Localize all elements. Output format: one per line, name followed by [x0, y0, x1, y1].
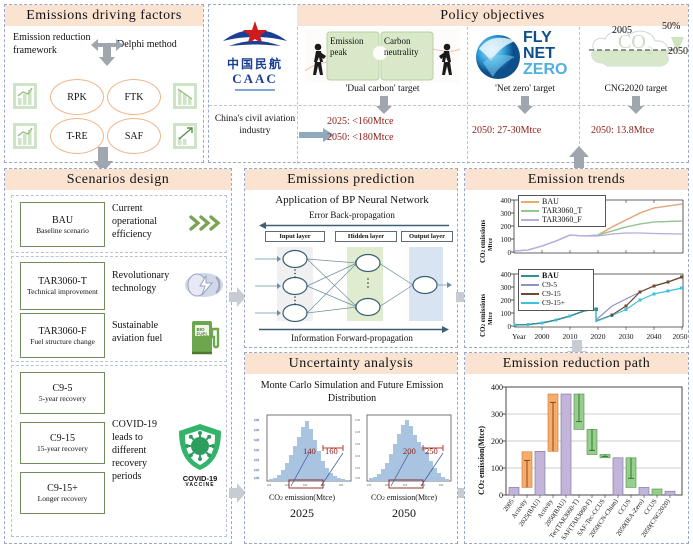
chart-b-xlabel: Year — [512, 332, 526, 341]
backprop-arrow-left-icon — [259, 222, 449, 229]
svg-text:100: 100 — [501, 236, 512, 244]
svg-text:180: 180 — [339, 483, 344, 487]
mc-2025-range-low: 140 — [303, 446, 316, 456]
svg-text:0: 0 — [508, 249, 512, 257]
legend-label: C9-15+ — [542, 298, 565, 307]
scenario-note-bau: Current operational efficiency — [112, 202, 184, 241]
factor-label: T-RE — [66, 131, 87, 142]
bp-neural-network-diagram: Input layer Hidden layer Output layer — [255, 231, 451, 323]
svg-text:2000: 2000 — [535, 332, 550, 341]
bar-chart-up-icon — [13, 123, 37, 149]
svg-text:0.35: 0.35 — [254, 418, 260, 422]
legend-swatch — [521, 284, 539, 286]
chart-emission-reduction-path: CO2 emission(Mtce) 4003002001000 — [465, 377, 690, 545]
scenario-box-c9-15-plus[interactable]: C9-15+ Longer recovery — [20, 472, 105, 514]
logo-line-fly: FLY — [523, 30, 567, 46]
cloud-year-2005-label: 2005 — [612, 25, 632, 36]
scenario-box-c9-5[interactable]: C9-5 5-year recovery — [20, 372, 105, 414]
legend-item: BAU — [521, 197, 603, 206]
svg-text:200: 200 — [501, 223, 512, 231]
svg-text:0.20: 0.20 — [355, 442, 361, 446]
legend-item: BAU — [521, 271, 591, 280]
scenario-desc: Baseline scenario — [36, 226, 89, 235]
legend-swatch — [521, 219, 539, 221]
legend-label: BAU — [542, 197, 559, 206]
scenario-desc: Technical improvement — [24, 287, 102, 296]
legend-swatch — [521, 210, 539, 212]
scenario-box-tar3060-f[interactable]: TAR3060-F Fuel structure change — [20, 313, 105, 358]
panel-emission-reduction-path: Emission reduction path CO2 emission(Mtc… — [464, 352, 689, 544]
scenario-code: BAU — [52, 215, 73, 226]
svg-text:300: 300 — [439, 483, 444, 487]
chart-emission-trends-scenarios: CO2 emissions Mtce 4003002001000 — [469, 193, 686, 267]
legend-swatch — [521, 275, 539, 277]
svg-text:2050: 2050 — [673, 332, 688, 341]
scenario-desc: Fuel structure change — [24, 337, 102, 346]
panel-emissions-driving-factors: Emissions driving factors Emission reduc… — [4, 4, 204, 163]
panel-title-scenarios-design: Scenarios design — [5, 169, 231, 190]
svg-text:100: 100 — [491, 464, 503, 473]
svg-text:2: 2 — [647, 43, 653, 57]
bar-chart-up-icon — [13, 83, 37, 109]
svg-text:0.30: 0.30 — [254, 428, 260, 432]
legend-item: TAR3060_F — [521, 215, 603, 224]
caac-logo: 中国民航 CAAC — [213, 9, 297, 104]
svg-text:0.15: 0.15 — [254, 458, 260, 462]
net-zero-value-2050: 2050: 27-30Mtce — [472, 125, 541, 136]
svg-text:0.25: 0.25 — [254, 438, 260, 442]
forwardprop-arrow-right-icon — [259, 326, 449, 333]
chart-mc-distribution-2050: 0.300.250.200.150.100.05 150180210250300… — [353, 413, 455, 541]
dual-carbon-value-2025: 2025: <160Mtce — [327, 116, 393, 127]
svg-text:150: 150 — [367, 483, 372, 487]
factor-oval-rpk[interactable]: RPK — [50, 79, 104, 115]
svg-text:2030: 2030 — [619, 332, 634, 341]
svg-text:100: 100 — [267, 483, 272, 487]
panel-uncertainty-analysis: Uncertainty analysis Monte Carlo Simulat… — [244, 352, 458, 544]
emission-peak-label: Emission peak — [330, 36, 378, 58]
legend-label: TAR3060_T — [542, 206, 582, 215]
carbon-neutrality-label: Carbon neutrality — [384, 36, 434, 58]
dual-carbon-target-graphic: Emission peak Carbon neutrality — [305, 29, 460, 83]
cloud-year-2050-label: 2050 — [668, 46, 688, 57]
logo-line-net: NET — [523, 46, 567, 62]
scenario-box-c9-15[interactable]: C9-15 15-year recovery — [20, 422, 105, 464]
svg-text:0.15: 0.15 — [355, 454, 361, 458]
mc-2025-year-label: 2025 — [251, 506, 353, 521]
panel-policy-objectives: Policy objectives 中国民航 CAAC — [208, 4, 689, 163]
svg-text:300: 300 — [491, 410, 503, 419]
dual-carbon-value-2050: 2050: <180Mtce — [327, 132, 393, 143]
legend-item: TAR3060_T — [521, 206, 603, 215]
mc-2050-range-high: 250 — [425, 446, 438, 456]
cloud-50-percent-label: 50% — [662, 21, 680, 32]
factor-label: FTK — [125, 92, 144, 103]
svg-text:0.05: 0.05 — [254, 476, 260, 480]
scenario-desc: 5-year recovery — [39, 394, 86, 403]
scenario-code: TAR3060-F — [38, 326, 86, 337]
panel-emissions-prediction: Emissions prediction Application of BP N… — [244, 168, 458, 348]
svg-text:100: 100 — [501, 310, 512, 318]
svg-text:400: 400 — [491, 383, 503, 392]
fly-net-zero-logo: FLY NET ZERO — [475, 28, 575, 84]
panel-title-emission-reduction-path: Emission reduction path — [465, 353, 688, 374]
svg-text:200: 200 — [491, 437, 503, 446]
factor-oval-saf[interactable]: SAF — [107, 118, 161, 154]
dual-carbon-down-arrow-icon — [375, 96, 393, 115]
chart-mc-distribution-2025: 0.350.300.250.20 0.150.100.05 1001201401… — [251, 413, 353, 541]
scenario-desc: Longer recovery — [38, 494, 88, 503]
covid-icon-sublabel: VACCINE — [172, 482, 228, 488]
svg-text:2020: 2020 — [591, 332, 606, 341]
logo-line-zero: ZERO — [523, 62, 567, 78]
panel-title-emission-trends: Emission trends — [465, 169, 688, 190]
legend-swatch — [521, 201, 539, 203]
caac-logo-text: CAAC — [213, 71, 297, 87]
svg-text:0: 0 — [508, 323, 512, 331]
panel-emission-trends: Emission trends CO2 emissions Mtce 40030… — [464, 168, 689, 348]
scenario-note-tar3060-f: Sustainable aviation fuel — [112, 319, 184, 345]
engine-lightning-icon — [184, 269, 224, 301]
svg-text:2040: 2040 — [647, 332, 662, 341]
legend-item: C9-15 — [521, 289, 591, 298]
emission-reduction-framework-label: Emission reduction framework — [13, 31, 91, 57]
scenario-desc: 15-year recovery — [37, 444, 88, 453]
cng2020-value-2050: 2050: 13.8Mtce — [591, 125, 654, 136]
delphi-method-label: Delphi method — [117, 39, 201, 51]
svg-text:0.25: 0.25 — [355, 430, 361, 434]
scenario-code: C9-15 — [50, 433, 75, 444]
legend-label: C9-15 — [542, 289, 561, 298]
caac-chinese-text: 中国民航 — [213, 55, 297, 72]
svg-text:0.10: 0.10 — [355, 466, 361, 470]
biofuel-pump-icon: BIO FUEL — [188, 315, 224, 355]
svg-text:300: 300 — [501, 284, 512, 292]
svg-text:FUEL: FUEL — [197, 332, 209, 337]
legend-item: C9-5 — [521, 280, 591, 289]
framework-method-arrow-icon — [89, 33, 125, 69]
legend-label: C9-5 — [542, 280, 557, 289]
cng2020-caption: CNG2020 target — [585, 84, 687, 94]
legend-swatch — [521, 293, 539, 295]
svg-text:400: 400 — [501, 197, 512, 205]
scenario-note-covid: COVID-19 leads to different recovery per… — [112, 418, 174, 483]
cng2020-cloud-graphic: CO 2 2005 50% 2050 — [585, 21, 687, 83]
mc-2050-xlabel: CO2 emission(Mtce) — [353, 493, 455, 502]
scenario-group-tar3060: TAR3060-T Technical improvement Revoluti… — [11, 256, 227, 362]
mc-2025-range-high: 160 — [325, 446, 338, 456]
error-backprop-label: Error Back-propagation — [245, 210, 459, 220]
svg-text:140: 140 — [303, 483, 308, 487]
panel-title-uncertainty-analysis: Uncertainty analysis — [245, 353, 457, 374]
chart-b-legend: BAU C9-5 C9-15 C9-15+ — [518, 269, 594, 311]
cng2020-down-arrow-icon — [627, 96, 645, 115]
bar-chart-arrow-up-icon — [173, 123, 197, 149]
chevrons-right-icon — [188, 213, 220, 233]
svg-text:210: 210 — [403, 483, 408, 487]
panel-title-driving-factors: Emissions driving factors — [5, 5, 203, 26]
uncertainty-subtitle: Monte Carlo Simulation and Future Emissi… — [253, 379, 451, 405]
mc-2050-year-label: 2050 — [353, 506, 455, 521]
scenario-code: C9-5 — [53, 383, 73, 394]
factor-oval-ftk[interactable]: FTK — [107, 79, 161, 115]
china-civil-aviation-industry-label: China's civil aviation industry — [213, 113, 297, 137]
panel-title-emissions-prediction: Emissions prediction — [245, 169, 457, 190]
svg-text:400: 400 — [501, 271, 512, 279]
legend-label: TAR3060_F — [542, 215, 582, 224]
bar-chart-down-icon — [173, 83, 197, 109]
svg-text:0: 0 — [499, 491, 503, 500]
scenario-group-bau: BAU Baseline scenario Current operationa… — [11, 195, 227, 253]
net-zero-down-arrow-icon — [516, 96, 534, 115]
dual-carbon-caption: 'Dual carbon' target — [305, 84, 460, 94]
scenario-box-tar3060-t[interactable]: TAR3060-T Technical improvement — [20, 262, 105, 310]
factor-label: SAF — [125, 131, 143, 142]
chart-emission-trends-covid: CO2 emissions Mtce 4003002001000 Year 20… — [469, 267, 686, 347]
svg-text:0.20: 0.20 — [254, 448, 260, 452]
svg-text:200: 200 — [501, 297, 512, 305]
mc-2050-range-low: 200 — [403, 446, 416, 456]
net-zero-caption: 'Net zero' target — [471, 84, 579, 94]
svg-text:300: 300 — [501, 210, 512, 218]
scenario-box-bau[interactable]: BAU Baseline scenario — [20, 202, 105, 247]
scenario-code: TAR3060-T — [38, 276, 87, 287]
legend-swatch — [521, 302, 539, 304]
scenario-group-covid: C9-5 5-year recovery C9-15 15-year recov… — [11, 365, 227, 537]
scenario-code: C9-15+ — [47, 483, 78, 494]
bp-network-subtitle: Application of BP Neural Network — [245, 194, 459, 206]
information-forwardprop-label: Information Forward-propagation — [245, 333, 459, 343]
chart-a-legend: BAU TAR3060_T TAR3060_F — [518, 195, 606, 227]
covid-vaccine-shield-icon — [176, 422, 224, 474]
legend-label: BAU — [542, 271, 559, 280]
mc-2025-xlabel: CO2 emission(Mtce) — [251, 493, 353, 502]
svg-text:0.05: 0.05 — [355, 476, 361, 480]
svg-text:0.10: 0.10 — [254, 468, 260, 472]
panel-scenarios-design: Scenarios design BAU Baseline scenario C… — [4, 168, 232, 544]
legend-item: C9-15+ — [521, 298, 591, 307]
svg-text:0.30: 0.30 — [355, 418, 361, 422]
factor-label: RPK — [67, 92, 86, 103]
scenario-note-tar3060-t: Revolutionary technology — [112, 269, 184, 295]
fly-net-zero-text: FLY NET ZERO — [523, 30, 567, 78]
